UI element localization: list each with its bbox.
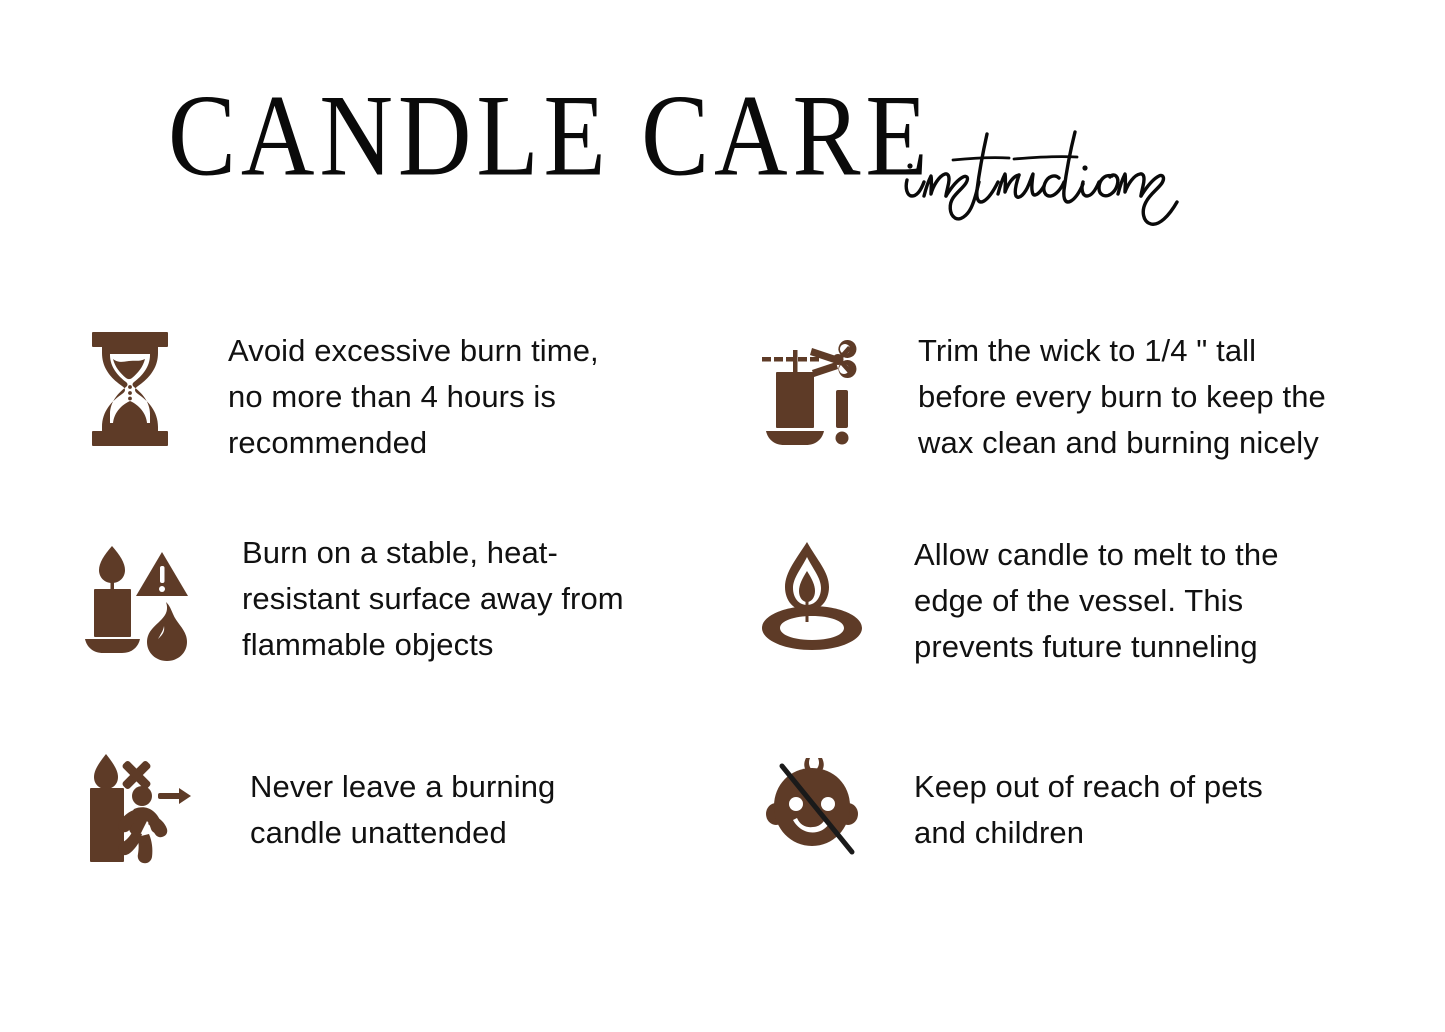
melted-candle-vessel-icon	[760, 540, 864, 652]
header: CANDLE CARE	[0, 0, 1445, 290]
tip-text: Trim the wick to 1/4 " tall before every…	[918, 328, 1388, 466]
tip-burn-time: Avoid excessive burn time, no more than …	[82, 328, 658, 466]
title-script-instructions	[897, 118, 1237, 238]
tip-text: Burn on a stable, heat- resistant surfac…	[242, 530, 672, 668]
candle-warning-flame-icon	[82, 540, 192, 662]
wick-trimmer-scissors-icon	[760, 328, 868, 450]
no-children-pets-icon	[760, 752, 864, 856]
hourglass-icon	[82, 328, 178, 450]
tip-melt-to-edge: Allow candle to melt to the edge of the …	[760, 540, 1384, 670]
tip-text: Keep out of reach of pets and children	[914, 764, 1384, 856]
tip-trim-wick: Trim the wick to 1/4 " tall before every…	[760, 328, 1388, 466]
tips-grid: Avoid excessive burn time, no more than …	[0, 300, 1445, 920]
page-title: CANDLE CARE	[168, 78, 933, 194]
tip-out-of-reach: Keep out of reach of pets and children	[760, 752, 1384, 856]
tip-text: Avoid excessive burn time, no more than …	[228, 328, 658, 466]
tip-text: Allow candle to melt to the edge of the …	[914, 532, 1384, 670]
tip-stable-surface: Burn on a stable, heat- resistant surfac…	[82, 540, 672, 668]
candle-no-unattended-running-person-icon	[82, 752, 194, 864]
tip-never-unattended: Never leave a burning candle unattended	[82, 752, 680, 864]
tip-text: Never leave a burning candle unattended	[250, 764, 680, 856]
